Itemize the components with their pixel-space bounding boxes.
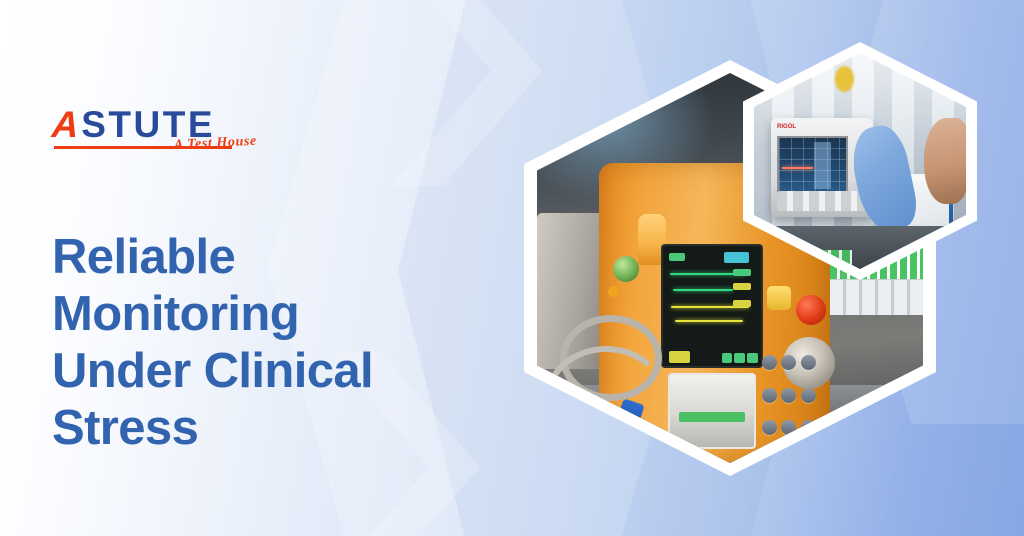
pad-button-4: [762, 388, 777, 403]
pad-button-7: [762, 420, 777, 435]
oscilloscope-beam: [814, 142, 831, 189]
ecg-trace-2: [673, 289, 733, 291]
spo2-trace-2: [675, 320, 743, 322]
green-knob: [613, 256, 639, 282]
oscilloscope-control-knobs: [777, 191, 865, 211]
oscilloscope-grid: [779, 138, 846, 194]
lab-yellow-fixture: [835, 66, 854, 92]
screen-softkey-3: [747, 353, 758, 364]
printer-slot: [668, 373, 755, 449]
screen-value-1: [733, 283, 751, 290]
headline-line-4: Stress: [52, 400, 522, 457]
pad-button-1: [762, 355, 777, 370]
yellow-shock-button: [767, 286, 791, 310]
button-pad: [761, 352, 821, 442]
equipment-panel-strip: [830, 280, 923, 315]
screen-softkey-2: [734, 353, 745, 364]
technician-face: [924, 118, 966, 204]
oscilloscope-screen: [777, 136, 848, 196]
hexagon-image-lab-technician-inner: RIGOL: [754, 53, 966, 269]
oscilloscope-brand-mark: RIGOL: [777, 124, 796, 130]
headline-line-3: Under Clinical: [52, 343, 522, 400]
screen-value-3: [733, 269, 751, 276]
marketing-banner: ASTUTE A Test House Reliable Monitoring …: [0, 0, 1024, 536]
oscilloscope-waveform: [782, 167, 813, 169]
pad-button-9: [801, 420, 816, 435]
patient-cable-loop-2: [545, 346, 667, 450]
logo-tagline: A Test House: [174, 134, 258, 154]
lab-technician-photo: RIGOL: [754, 53, 966, 269]
headline-line-2: Monitoring: [52, 286, 522, 343]
monitor-screen: [661, 244, 762, 368]
chevron-watermark-top: [392, 0, 542, 186]
pad-button-3: [801, 355, 816, 370]
astute-logo[interactable]: ASTUTE A Test House: [52, 106, 302, 168]
headline-line-1: Reliable: [52, 229, 522, 286]
screen-badge-2: [669, 253, 685, 261]
amber-indicator: [608, 286, 619, 297]
headline: Reliable Monitoring Under Clinical Stres…: [52, 229, 522, 457]
pad-button-2: [781, 355, 796, 370]
screen-softkey-1: [722, 353, 733, 364]
logo-initial: A: [51, 106, 83, 143]
pad-button-8: [781, 420, 796, 435]
pad-button-5: [781, 388, 796, 403]
screen-badge-1: [724, 252, 749, 263]
screen-readout: [669, 351, 690, 363]
pad-button-6: [801, 388, 816, 403]
screen-value-2: [733, 300, 751, 307]
red-shock-button: [796, 295, 826, 325]
